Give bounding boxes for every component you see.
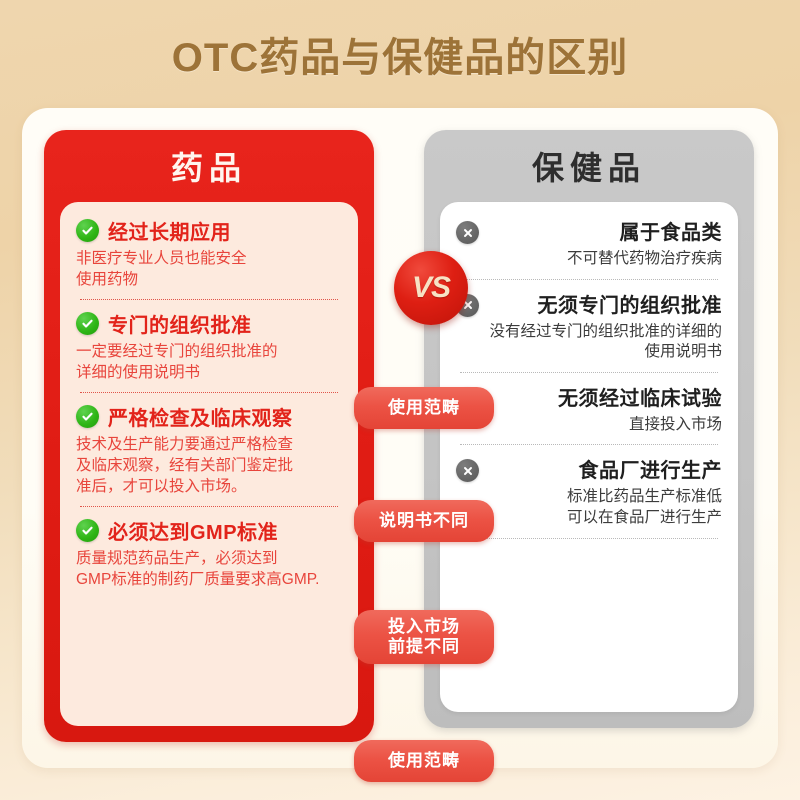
compare-pill: 使用范畴: [354, 387, 494, 429]
title-bar: OTC药品与保健品的区别: [0, 0, 800, 108]
health-feature-desc: 标准比药品生产标准低 可以在食品厂进行生产: [489, 487, 722, 528]
health-feature-title: 食品厂进行生产: [489, 454, 722, 483]
divider: [460, 372, 718, 373]
drug-feature-title: 必须达到GMP标准: [108, 516, 278, 545]
health-feature-title: 无须经过临床试验: [489, 382, 722, 411]
check-circle-icon: [76, 405, 99, 428]
drug-feature-desc: 技术及生产能力要通过严格检查 及临床观察，经有关部门鉴定批 准后，才可以投入市场…: [76, 435, 342, 497]
health-feature-body: 属于食品类 不可替代药物治疗疾病: [489, 216, 722, 270]
drug-panel: 药品 经过长期应用 非医疗专业人员也能安全 使用药物 专门的组织批准: [44, 130, 374, 742]
health-feature-item: 食品厂进行生产 标准比药品生产标准低 可以在食品厂进行生产: [456, 454, 722, 528]
vs-label: VS: [412, 271, 450, 305]
compare-pill: 使用范畴: [354, 740, 494, 782]
compare-pill: 投入市场 前提不同: [354, 610, 494, 664]
health-feature-title: 无须专门的组织批准: [489, 289, 722, 318]
health-feature-body: 食品厂进行生产 标准比药品生产标准低 可以在食品厂进行生产: [489, 454, 722, 528]
drug-feature-heading: 必须达到GMP标准: [76, 516, 342, 545]
check-circle-icon: [76, 219, 99, 242]
drug-panel-header: 药品: [44, 130, 374, 202]
drug-feature-item: 严格检查及临床观察 技术及生产能力要通过严格检查 及临床观察，经有关部门鉴定批 …: [76, 402, 342, 497]
health-feature-item: 无须专门的组织批准 没有经过专门的组织批准的详细的 使用说明书: [456, 289, 722, 363]
cross-circle-icon: [456, 459, 479, 482]
health-feature-item: 属于食品类 不可替代药物治疗疾病: [456, 216, 722, 270]
divider: [80, 299, 338, 300]
page-title: OTC药品与保健品的区别: [172, 25, 628, 83]
vs-badge: VS: [394, 251, 468, 325]
drug-feature-desc: 一定要经过专门的组织批准的 详细的使用说明书: [76, 342, 342, 383]
drug-feature-item: 专门的组织批准 一定要经过专门的组织批准的 详细的使用说明书: [76, 309, 342, 383]
health-feature-body: 无须经过临床试验 直接投入市场: [489, 382, 722, 436]
divider: [80, 506, 338, 507]
health-feature-desc: 直接投入市场: [489, 415, 722, 436]
drug-feature-heading: 经过长期应用: [76, 216, 342, 245]
drug-feature-desc: 质量规范药品生产，必须达到 GMP标准的制药厂质量要求高GMP.: [76, 549, 342, 590]
health-feature-desc: 不可替代药物治疗疾病: [489, 249, 722, 270]
health-panel-header: 保健品: [424, 130, 754, 202]
drug-feature-item: 必须达到GMP标准 质量规范药品生产，必须达到 GMP标准的制药厂质量要求高GM…: [76, 516, 342, 590]
drug-feature-title: 专门的组织批准: [108, 309, 252, 338]
drug-feature-title: 经过长期应用: [108, 216, 231, 245]
health-feature-title: 属于食品类: [489, 216, 722, 245]
comparison-card: 药品 经过长期应用 非医疗专业人员也能安全 使用药物 专门的组织批准: [22, 108, 778, 768]
divider: [460, 279, 718, 280]
health-feature-body: 无须专门的组织批准 没有经过专门的组织批准的详细的 使用说明书: [489, 289, 722, 363]
cross-circle-icon: [456, 221, 479, 244]
drug-feature-heading: 严格检查及临床观察: [76, 402, 342, 431]
check-circle-icon: [76, 519, 99, 542]
drug-feature-title: 严格检查及临床观察: [108, 402, 293, 431]
drug-feature-desc: 非医疗专业人员也能安全 使用药物: [76, 249, 342, 290]
check-circle-icon: [76, 312, 99, 335]
health-feature-item: 无须经过临床试验 直接投入市场: [456, 382, 722, 436]
drug-feature-list: 经过长期应用 非医疗专业人员也能安全 使用药物 专门的组织批准 一定要经过专门的…: [60, 202, 358, 726]
divider: [460, 538, 718, 539]
health-feature-desc: 没有经过专门的组织批准的详细的 使用说明书: [489, 322, 722, 363]
compare-pill: 说明书不同: [354, 500, 494, 542]
divider: [80, 392, 338, 393]
drug-feature-heading: 专门的组织批准: [76, 309, 342, 338]
divider: [460, 444, 718, 445]
drug-feature-item: 经过长期应用 非医疗专业人员也能安全 使用药物: [76, 216, 342, 290]
